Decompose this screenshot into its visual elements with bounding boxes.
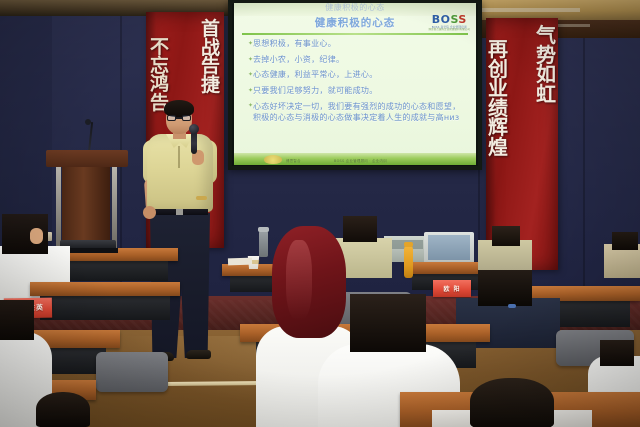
left-banner-column-right: 首 战 告 捷 (201, 20, 220, 94)
list-item: ✦ 心态好坏决定一切，我们要有强烈的成功的心态和愿望， 积极的心态与消极的心态做… (248, 101, 466, 123)
slide-footer-left-text: 博思智合 (286, 158, 301, 163)
speaker-hand-left (143, 206, 156, 219)
left-banner-column-left: 不 忘 鸿 告 (150, 38, 169, 112)
slide-footer-right-text: BOSS 企业管理顾问 · 企业内训 (334, 158, 387, 163)
boss-logo-letters: BOSS (429, 14, 470, 25)
desk-frame (68, 261, 168, 281)
list-item: ✦ 心态健康，利益平常心，上进心。 (248, 70, 466, 80)
bullet-text: 思想积极，有事业心。 (253, 39, 336, 49)
eyeglasses-icon (167, 115, 191, 121)
seminar-photo: 健康积极的心态 健康积极的心态 BOSS BOSS 商学院 企业管理培训 博思智… (0, 0, 640, 427)
wristwatch-icon (196, 196, 207, 200)
boss-letter-s2: S (458, 13, 466, 26)
water-bottle-cap (404, 242, 413, 247)
boss-letter-o: O (441, 13, 451, 26)
attendee-hair (470, 378, 554, 427)
av-monitor-screen (428, 235, 470, 260)
banner-char: 捷 (201, 76, 220, 95)
attendee-hair (600, 340, 634, 366)
speaker-polo-shirt (147, 134, 213, 212)
slide-ghost-title: 健康积极的心态 (234, 3, 476, 13)
glasses-lens-left (167, 115, 176, 121)
banner-char: 煌 (488, 138, 508, 158)
slide-divider-rule (242, 33, 468, 35)
boss-letter-b: B (432, 13, 441, 26)
bullet-text: 只要我们足够努力，就可能成功。 (253, 86, 378, 96)
water-bottle (404, 246, 413, 278)
attendee-hand (30, 228, 43, 244)
list-item: ✦ 思想积极，有事业心。 (248, 39, 466, 49)
podium-microphone-icon (85, 119, 91, 125)
banner-char: 不 (150, 38, 169, 57)
banner-char: 虹 (536, 85, 556, 105)
chair (96, 352, 168, 392)
speaker-shirt-placket (178, 146, 180, 168)
thermos (259, 231, 268, 257)
slide-bullet-list: ✦ 思想积极，有事业心。 ✦ 去掉小农，小资，纪律。 ✦ 心态健康，利益平常心，… (248, 39, 466, 129)
podium-leg (112, 166, 117, 248)
podium-body (62, 166, 110, 248)
right-banner-column-left: 再 创 业 绩 辉 煌 (488, 40, 508, 158)
bullet-text-continued: 积极的心态与消极的心态做事决定着人生的成就与高низ (253, 112, 461, 123)
bullet-text: 心态健康，利益平常心，上进心。 (253, 70, 378, 80)
speaker-belt-buckle (176, 209, 183, 215)
attendee-hair (350, 294, 426, 352)
wall-seam (583, 14, 585, 314)
speaker-shoe-right (186, 350, 211, 359)
laptop-base (66, 248, 118, 253)
papers-on-desk (228, 258, 252, 266)
list-item: ✦ 去掉小农，小资，纪律。 (248, 55, 466, 65)
banner-char: 首 (201, 20, 220, 39)
attendee-hair-highlight (286, 240, 312, 320)
boss-logo: BOSS BOSS 商学院 企业管理培训 博思智合国际企业管理顾问有限公司 (429, 14, 470, 32)
desk-frame (40, 296, 170, 320)
thermos-cap (258, 227, 269, 232)
shirt-logo-tag (508, 304, 516, 308)
slide-footer-mark-icon (264, 155, 282, 164)
attendee-hair (0, 300, 34, 340)
right-banner-column-right: 气 势 如 虹 (536, 26, 556, 104)
podium-leg (56, 166, 61, 248)
attendee-hair (478, 270, 532, 306)
glasses-lens-right (182, 115, 191, 121)
podium (46, 150, 128, 167)
projection-screen: 健康积极的心态 健康积极的心态 BOSS BOSS 商学院 企业管理培训 博思智… (234, 3, 476, 165)
attendee-hair (612, 232, 638, 250)
microphone-head-icon (189, 124, 199, 134)
bullet-text: 去掉小农，小资，纪律。 (253, 55, 344, 65)
name-card-right: 欧 阳 (433, 280, 471, 297)
attendee-hair (36, 392, 90, 427)
boss-logo-subtitle-2: 博思智合国际企业管理顾问有限公司 (429, 29, 470, 31)
attendee-hair (343, 216, 377, 242)
desk (30, 282, 180, 296)
bullet-text: 心态好坏决定一切，我们要有强烈的成功的心态和愿望， (253, 101, 461, 112)
name-card-text: 欧 阳 (443, 284, 460, 293)
list-item: ✦ 只要我们足够努力，就可能成功。 (248, 86, 466, 96)
attendee-hair (492, 226, 520, 246)
